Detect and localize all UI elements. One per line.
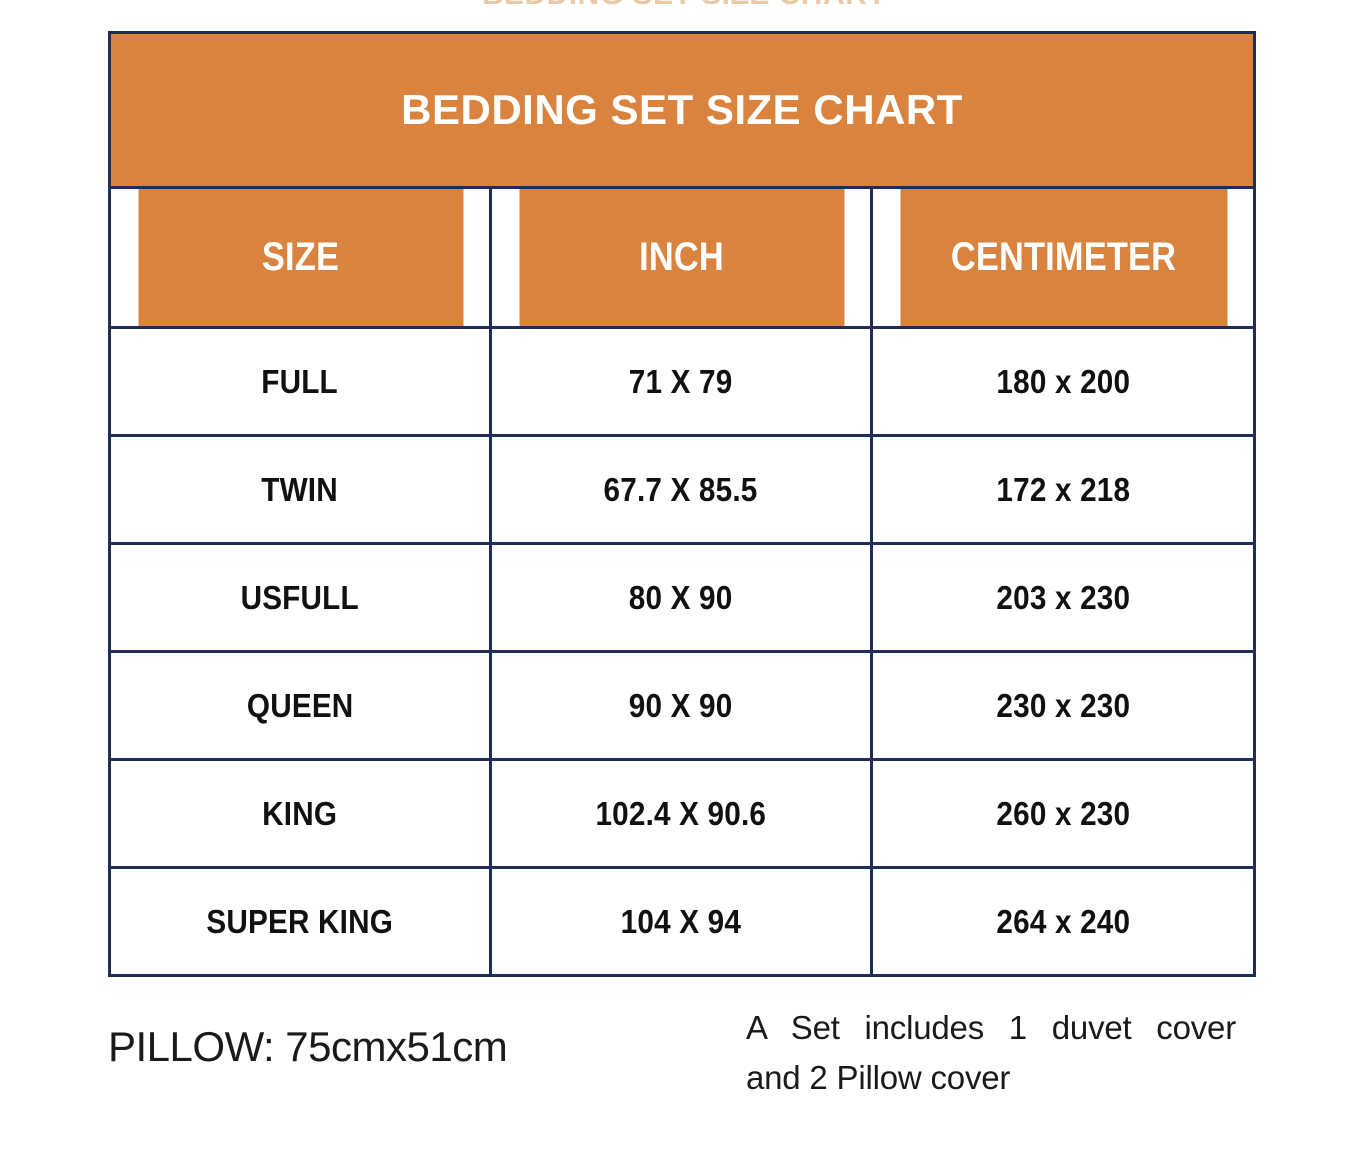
cell-inch-text: 67.7 X 85.5: [604, 471, 758, 509]
cell-size: KING: [110, 760, 491, 868]
table-row: TWIN 67.7 X 85.5 172 x 218: [110, 436, 1255, 544]
cell-size-text: SUPER KING: [207, 903, 394, 941]
table-row: USFULL 80 X 90 203 x 230: [110, 544, 1255, 652]
cell-centimeter: 203 x 230: [872, 544, 1255, 652]
cell-centimeter: 230 x 230: [872, 652, 1255, 760]
cell-inch-text: 71 X 79: [629, 363, 733, 401]
cell-centimeter: 180 x 200: [872, 328, 1255, 436]
cell-inch: 90 X 90: [491, 652, 872, 760]
cell-inch-text: 102.4 X 90.6: [596, 795, 767, 833]
cell-inch-text: 104 X 94: [621, 903, 741, 941]
cell-centimeter: 172 x 218: [872, 436, 1255, 544]
cell-size-text: USFULL: [241, 579, 359, 617]
size-chart-container: BEDDING SET SIZE CHART SIZE INCH CENTIME…: [108, 31, 1253, 977]
table-row: SUPER KING 104 X 94 264 x 240: [110, 868, 1255, 976]
cell-size: USFULL: [110, 544, 491, 652]
table-title-row: BEDDING SET SIZE CHART: [110, 33, 1255, 188]
cell-inch: 80 X 90: [491, 544, 872, 652]
footer-notes: PILLOW: 75cmx51cm A Set includes 1 duvet…: [0, 995, 1368, 1135]
cell-inch-text: 90 X 90: [629, 687, 733, 725]
column-header-inch: INCH: [517, 188, 845, 328]
cell-inch: 67.7 X 85.5: [491, 436, 872, 544]
table-row: QUEEN 90 X 90 230 x 230: [110, 652, 1255, 760]
cell-centimeter-text: 180 x 200: [996, 363, 1130, 401]
bedding-size-chart-table: BEDDING SET SIZE CHART SIZE INCH CENTIME…: [108, 31, 1256, 977]
chart-title: BEDDING SET SIZE CHART: [110, 33, 1255, 188]
cell-centimeter-text: 172 x 218: [996, 471, 1130, 509]
cell-size-text: KING: [263, 795, 338, 833]
cell-size-text: FULL: [262, 363, 339, 401]
cell-inch: 102.4 X 90.6: [491, 760, 872, 868]
cell-centimeter: 260 x 230: [872, 760, 1255, 868]
table-row: FULL 71 X 79 180 x 200: [110, 328, 1255, 436]
cell-inch: 71 X 79: [491, 328, 872, 436]
cell-size-text: TWIN: [262, 471, 339, 509]
cell-centimeter-text: 260 x 230: [996, 795, 1130, 833]
cell-inch-text: 80 X 90: [629, 579, 733, 617]
cropped-top-title: BEDDING SET SIZE CHART: [0, 0, 1368, 12]
cell-centimeter-text: 203 x 230: [996, 579, 1130, 617]
cell-size-text: QUEEN: [247, 687, 354, 725]
cell-centimeter-text: 264 x 240: [996, 903, 1130, 941]
cell-size: TWIN: [110, 436, 491, 544]
cell-inch: 104 X 94: [491, 868, 872, 976]
cell-size: FULL: [110, 328, 491, 436]
pillow-size-note: PILLOW: 75cmx51cm: [108, 1023, 507, 1071]
set-contents-note: A Set includes 1 duvet cover and 2 Pillo…: [746, 1003, 1236, 1102]
table-header-row: SIZE INCH CENTIMETER: [110, 188, 1255, 328]
table-row: KING 102.4 X 90.6 260 x 230: [110, 760, 1255, 868]
cell-centimeter-text: 230 x 230: [996, 687, 1130, 725]
column-header-centimeter: CENTIMETER: [898, 188, 1227, 328]
set-contents-note-line-1: A Set includes 1 duvet cover: [746, 1003, 1236, 1053]
cell-centimeter: 264 x 240: [872, 868, 1255, 976]
cell-size: QUEEN: [110, 652, 491, 760]
set-contents-note-line-2: and 2 Pillow cover: [746, 1053, 1236, 1103]
cell-size: SUPER KING: [110, 868, 491, 976]
column-header-size: SIZE: [136, 188, 464, 328]
